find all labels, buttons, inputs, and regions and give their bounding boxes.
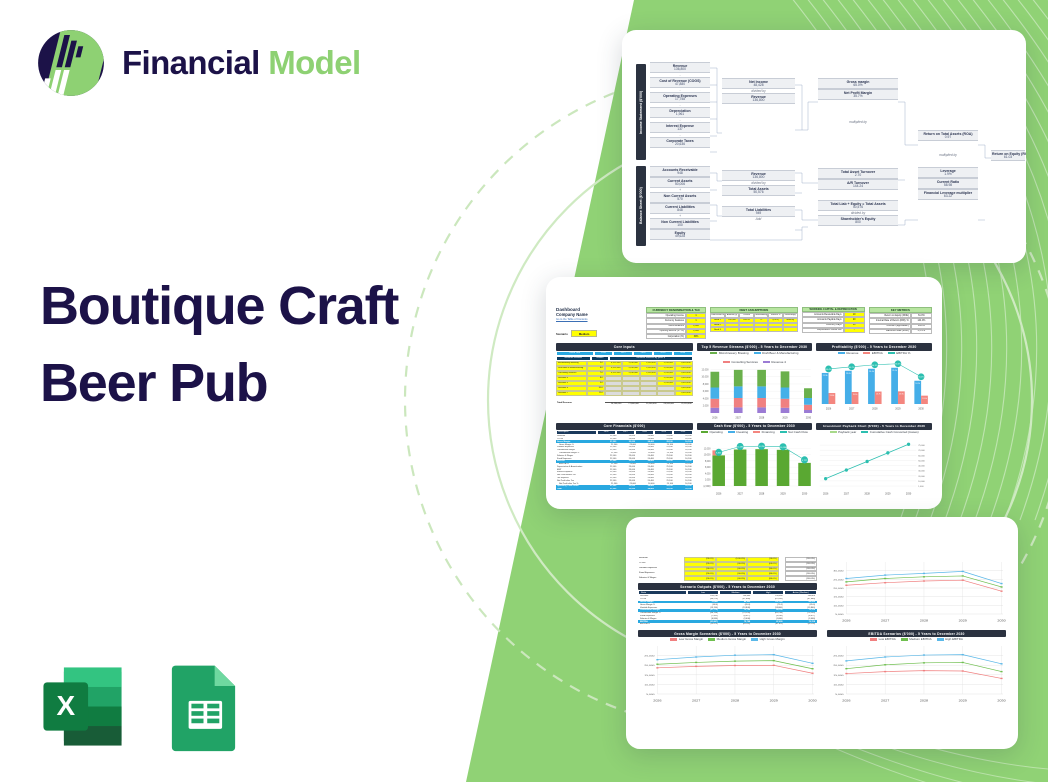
legend-item: Operating xyxy=(701,430,723,434)
svg-text:2026: 2026 xyxy=(823,492,829,495)
svg-text:2028: 2028 xyxy=(920,699,929,702)
svg-text:15,000: 15,000 xyxy=(644,674,655,677)
svg-text:2027: 2027 xyxy=(844,492,850,495)
svg-text:2027: 2027 xyxy=(737,492,743,495)
svg-text:2030: 2030 xyxy=(805,416,811,419)
core-inputs-title: Core Inputs xyxy=(556,343,693,350)
svg-text:20,000: 20,000 xyxy=(833,664,844,667)
svg-text:15.9k: 15.9k xyxy=(899,393,904,395)
cell-value[interactable] xyxy=(605,391,623,396)
table-row: Total21,50023,00024,40025,10016,100 xyxy=(556,488,693,491)
cell-value[interactable] xyxy=(622,391,640,396)
table-row: Depreciation Useful Life7 xyxy=(802,328,865,333)
core-inputs-block: Core Inputs Fiscal Year20262027202820292… xyxy=(556,343,693,418)
svg-text:65.1%: 65.1% xyxy=(919,376,925,378)
svg-text:30,000: 30,000 xyxy=(833,569,844,572)
chart-investment-payback: Investment Payback Chart ($'000) - 5 Yea… xyxy=(816,423,932,505)
svg-text:63.5%: 63.5% xyxy=(896,363,902,365)
svg-text:5,000: 5,000 xyxy=(646,693,655,696)
cell-growth[interactable]: 11.0 xyxy=(587,391,605,396)
cell-note: (100.0%) xyxy=(785,576,817,581)
svg-text:50,000: 50,000 xyxy=(918,460,925,462)
dupont-node-total-liabilities: Total Liabilities949 xyxy=(722,206,795,217)
cell[interactable] xyxy=(754,327,769,332)
cell[interactable] xyxy=(739,327,754,332)
svg-text:(2,000): (2,000) xyxy=(703,486,710,488)
legend-item: Low EBITDA xyxy=(870,637,896,641)
svg-text:25,000: 25,000 xyxy=(644,654,655,657)
legend-item: Draft Beer & Manufacturing xyxy=(754,351,799,355)
cell-value: 21,500 xyxy=(598,488,617,491)
svg-text:65.2%: 65.2% xyxy=(849,366,855,368)
chart-plot: 5,00010,00015,00020,00025,00020262027202… xyxy=(638,641,817,703)
svg-text:25,000: 25,000 xyxy=(833,578,844,581)
svg-text:10,295: 10,295 xyxy=(737,446,744,448)
svg-text:2,000: 2,000 xyxy=(702,405,708,407)
dupont-node-total-asset-turnover: Total Asset Turnover2.70 xyxy=(818,168,898,179)
svg-text:10,258: 10,258 xyxy=(758,446,765,448)
cell-input[interactable]: (80.0%) xyxy=(747,576,779,581)
legend-item: EBITDA xyxy=(863,351,882,355)
svg-text:2027: 2027 xyxy=(881,699,890,702)
screenshot-dashboard[interactable]: Dashboard Company Name Go to the Table o… xyxy=(546,277,942,509)
cell-label[interactable]: Revenue 7 xyxy=(556,391,587,396)
svg-text:2027: 2027 xyxy=(849,407,855,410)
promo-banner: Financial Model Boutique Craft Beer Pub … xyxy=(0,0,1048,782)
chart-cash-flow: Cash flow ($'000) - 5 Years to December … xyxy=(697,423,813,505)
svg-text:75,000: 75,000 xyxy=(918,445,925,447)
cell-value: (62.0%) xyxy=(720,623,752,626)
legend-item: Revenue 4 xyxy=(763,360,786,364)
svg-text:2028: 2028 xyxy=(920,619,929,622)
screenshot-dupont-analysis[interactable]: Income Statement ($'000) Balance Sheet (… xyxy=(622,30,1026,263)
panel-currency: CURRENCY DENOMINATION & TAX Operating In… xyxy=(646,307,706,339)
svg-text:8,866: 8,866 xyxy=(716,452,722,454)
dupont-node-net-profit-margin: Net Profit Margin35.7% xyxy=(818,89,898,100)
svg-text:15,000: 15,000 xyxy=(833,595,844,598)
dupont-column-5: Return on Equity (ROE)61.03 xyxy=(991,150,1025,161)
chart-legend: OperatingInvestingFinancingNet Cash Flow xyxy=(697,430,813,434)
total-value: 21,110,000 xyxy=(675,402,693,406)
cell-value[interactable]: 7 xyxy=(844,328,865,333)
svg-text:2,000: 2,000 xyxy=(705,480,711,482)
table-row: Revenue 711.04,020,000 xyxy=(556,391,693,396)
svg-text:2029: 2029 xyxy=(885,492,891,495)
chart-plot: 21.5k13.8k202623.0k15.1k202724.4k15.7k20… xyxy=(816,355,932,411)
dupont-balance-node: Non Current Assets570 xyxy=(650,192,710,203)
svg-text:2030: 2030 xyxy=(997,699,1006,702)
total-value: 29,200,000 xyxy=(640,402,658,406)
dupont-balance-column: Accounts Receivable948Current Assets50,0… xyxy=(650,166,710,240)
svg-text:10.5k: 10.5k xyxy=(922,398,927,400)
svg-text:4,000: 4,000 xyxy=(705,473,711,475)
dupont-column-3b: Total Asset Turnover2.70A/R Turnover144.… xyxy=(818,168,898,226)
google-sheets-icon xyxy=(157,660,250,753)
page-title: Boutique Craft Beer Pub xyxy=(40,268,420,421)
legend-item: EBITDA % xyxy=(888,351,911,355)
svg-text:25,000: 25,000 xyxy=(833,654,844,657)
svg-text:8,000: 8,000 xyxy=(705,461,711,463)
dashboard-title-block: Dashboard Company Name Go to the Table o… xyxy=(556,307,642,337)
dupont-balance-node: Accounts Receivable948 xyxy=(650,166,710,177)
dupont-operator: multiplied by xyxy=(818,120,898,124)
panel-debt: DEBT ASSUMPTIONS Loan/Grant NameAmount (… xyxy=(710,307,797,332)
dupont-balance-node: Current Assets50,006 xyxy=(650,177,710,188)
svg-text:10,000: 10,000 xyxy=(644,683,655,686)
cell-value: 23,000 xyxy=(617,488,636,491)
svg-text:2029: 2029 xyxy=(770,699,779,702)
cell-value: 1,373.0 xyxy=(911,329,932,334)
svg-text:2026: 2026 xyxy=(653,699,662,702)
svg-text:2026: 2026 xyxy=(826,407,832,410)
svg-text:24.4k: 24.4k xyxy=(869,371,874,373)
svg-text:6,727: 6,727 xyxy=(802,460,808,462)
cell-value: (67.0%) xyxy=(752,623,784,626)
dupont-column-4: Return on Total Assets (ROA)0.97multipli… xyxy=(918,130,978,200)
chart-plot: 5,00010,00015,00020,00025,00020262027202… xyxy=(827,641,1006,703)
dupont-node-revenue: Revenue136,800 xyxy=(722,93,795,104)
screenshot-scenario-analysis[interactable]: Revenue(20.0%)(0.00.0%)(10.0%)(100.0%)CO… xyxy=(626,517,1018,749)
chart-plot: 2,0004,0006,0008,00010,00012,00020262027… xyxy=(697,364,813,420)
svg-text:25.1k: 25.1k xyxy=(893,370,898,372)
dupont-node-ar-turnover: A/R Turnover144.24 xyxy=(818,179,898,190)
table-row: Bond 3 xyxy=(710,327,797,332)
svg-text:2028: 2028 xyxy=(758,492,764,495)
svg-text:20,000: 20,000 xyxy=(644,664,655,667)
dupont-income-column: Revenue136,800-Cost of Revenue (COGS)47,… xyxy=(650,62,710,148)
dupont-node-liab-equity: Total Liab + Equity = Total Assets50,576 xyxy=(818,200,898,211)
svg-text:2029: 2029 xyxy=(782,416,788,419)
svg-text:60,000: 60,000 xyxy=(918,455,925,457)
dupont-node-leverage: Leverage1.9% xyxy=(918,167,978,178)
cell-label: Maximum Rate (2030) xyxy=(869,329,911,334)
svg-text:10,000: 10,000 xyxy=(918,481,925,483)
svg-text:2026: 2026 xyxy=(842,619,851,622)
core-financials-block: Core Financials ($'000) Description20262… xyxy=(556,423,693,505)
dupont-node-revenue-2: Revenue136,800 xyxy=(722,170,795,181)
table-total-row: Total Revenue24,200,00027,800,00029,200,… xyxy=(556,402,693,406)
svg-text:2030: 2030 xyxy=(997,619,1006,622)
chart-gross-margin-scenarios: Gross Margin Scenarios ($'000) - 5 Years… xyxy=(638,630,817,711)
legend-item: Medium EBITDA xyxy=(901,637,932,641)
chart-title-payback: Investment Payback Chart ($'000) - 5 Yea… xyxy=(816,423,932,430)
svg-text:12,000: 12,000 xyxy=(703,448,710,450)
dupont-balance-node: Equity49,628 xyxy=(650,229,710,240)
chart-legend: Payback yearCumulative Cash Converted (l… xyxy=(816,430,932,434)
dupont-node-total-assets: Total Assets50,576 xyxy=(722,185,795,196)
cell[interactable]: Bond 3 xyxy=(710,327,725,332)
legend-item: Consulting Services xyxy=(723,360,758,364)
table-row: EBITDA %(62.1%)(62.0%)(67.0%)(62.0%) xyxy=(638,623,817,626)
dupont-income-node: Revenue136,800 xyxy=(650,62,710,73)
svg-text:20,000: 20,000 xyxy=(918,476,925,478)
cell-label: Total xyxy=(556,488,598,491)
scenario-inputs-table: Revenue(20.0%)(0.00.0%)(10.0%)(100.0%)CO… xyxy=(638,557,817,581)
dashboard-subheading: Company Name xyxy=(556,312,642,317)
dupont-balance-node: Non Current Liabilities100 xyxy=(650,218,710,229)
cell-value: 24,400 xyxy=(636,488,655,491)
svg-text:40,000: 40,000 xyxy=(918,465,925,467)
dupont-column-2b: Revenue136,800divided byTotal Assets50,5… xyxy=(722,170,795,221)
svg-text:10,000: 10,000 xyxy=(703,454,710,456)
legend-item: Investing xyxy=(728,430,749,434)
svg-text:10,000: 10,000 xyxy=(833,604,844,607)
brand-name-part2: Model xyxy=(268,44,360,81)
svg-text:16.1k: 16.1k xyxy=(916,383,921,385)
cell[interactable] xyxy=(783,327,798,332)
svg-text:2028: 2028 xyxy=(872,407,878,410)
legend-item: Revenue xyxy=(838,351,859,355)
svg-text:2030: 2030 xyxy=(906,492,912,495)
cell-label: Salaries & Wages xyxy=(638,576,684,581)
scenario-revenue-chart: 5,00010,00015,00020,00025,00030,00020262… xyxy=(827,557,1006,627)
cell-value: 25,100 xyxy=(655,488,674,491)
svg-text:5,000: 5,000 xyxy=(835,613,844,616)
dupont-node-net-income: Net Income48,428 xyxy=(722,78,795,89)
svg-text:2030: 2030 xyxy=(808,699,817,702)
chart-title-profitability: Profitability ($'000) - 5 Years to Decem… xyxy=(816,343,932,350)
svg-text:2030: 2030 xyxy=(919,407,925,410)
chart-title-ebitda: EBITDA Scenarios ($'000) - 5 Years to De… xyxy=(827,630,1006,637)
chart-plot: 1,00010,00020,00030,00040,00050,00060,00… xyxy=(816,434,932,496)
dupont-node-current-ratio: Current Ratio58.98 xyxy=(918,178,978,189)
dupont-node-gross-margin: Gross margin65.0% xyxy=(818,78,898,89)
scenario-outputs-table: RatioLowMediumHighActive (Medium)Revenue… xyxy=(638,590,817,626)
svg-text:70,000: 70,000 xyxy=(918,450,925,452)
svg-text:13.8k: 13.8k xyxy=(830,395,835,397)
svg-text:2027: 2027 xyxy=(735,416,741,419)
chart-ebitda-scenarios: EBITDA Scenarios ($'000) - 5 Years to De… xyxy=(827,630,1006,711)
cell-value[interactable] xyxy=(640,391,658,396)
svg-text:15,000: 15,000 xyxy=(833,674,844,677)
cell-label: EBITDA % xyxy=(638,623,687,626)
dupont-operator: Add xyxy=(722,217,795,221)
svg-text:2028: 2028 xyxy=(865,492,871,495)
svg-text:10,000: 10,000 xyxy=(833,683,844,686)
brand-name-part1: Financial xyxy=(122,44,268,81)
svg-text:2026: 2026 xyxy=(842,699,851,702)
cell[interactable] xyxy=(725,327,740,332)
svg-text:2029: 2029 xyxy=(780,492,786,495)
svg-text:64.3%: 64.3% xyxy=(872,364,878,366)
dupont-income-node: Corporate Taxes20,636 xyxy=(650,137,710,148)
legend-item: Medium Gross Margin xyxy=(708,637,746,641)
legend-item: Payback year xyxy=(830,430,857,434)
dupont-rail-balance-sheet: Balance Sheet ($'000) xyxy=(636,166,646,246)
svg-text:12,000: 12,000 xyxy=(701,369,709,371)
svg-text:15.1k: 15.1k xyxy=(853,394,858,396)
cell-value[interactable] xyxy=(657,391,675,396)
chart-title-cash-flow: Cash flow ($'000) - 5 Years to December … xyxy=(697,423,813,430)
circular-bar-chart-logo-icon xyxy=(36,28,106,98)
dashboard-toc-link[interactable]: Go to the Table of Contents xyxy=(556,318,642,321)
total-value: 27,800,000 xyxy=(622,402,640,406)
legend-item: High Gross Margin xyxy=(751,637,785,641)
chart-top-revenue-streams: Top 5 Revenue Streams ($'000) - 5 Years … xyxy=(697,343,813,418)
svg-text:2027: 2027 xyxy=(692,699,701,702)
microsoft-excel-icon: X xyxy=(36,660,129,753)
cell-value[interactable]: 30% xyxy=(686,334,706,339)
panel-key-metrics: KEY METRICS Return on Equity (ROE)61.0%I… xyxy=(869,307,932,334)
svg-text:2029: 2029 xyxy=(959,619,968,622)
panel-working-capital: WORKING CAPITAL & DEPRECIATION Accounts … xyxy=(802,307,865,333)
svg-text:2026: 2026 xyxy=(712,416,718,419)
svg-text:8,000: 8,000 xyxy=(702,384,708,386)
dupont-income-node: Operating Expenses17,758 xyxy=(650,92,710,103)
cell[interactable] xyxy=(768,327,783,332)
app-icons: X xyxy=(36,660,250,753)
svg-text:15.7k: 15.7k xyxy=(876,393,881,395)
svg-text:23.0k: 23.0k xyxy=(846,373,851,375)
svg-text:20,000: 20,000 xyxy=(833,587,844,590)
cell-input[interactable]: (00.0%) xyxy=(716,576,748,581)
brand-name: Financial Model xyxy=(122,44,361,82)
dupont-income-node: Cost of Revenue (COGS)47,880 xyxy=(650,77,710,88)
table-row: Salaries & Wages(20.0%)(00.0%)(80.0%)(10… xyxy=(638,576,817,581)
dupont-column-3: Gross margin65.0%Net Profit Margin35.7%m… xyxy=(818,78,898,124)
svg-text:2026: 2026 xyxy=(716,492,722,495)
svg-text:10,156: 10,156 xyxy=(780,447,787,449)
dupont-rail-income-statement: Income Statement ($'000) xyxy=(636,64,646,160)
scenario-selector[interactable]: Medium xyxy=(571,330,598,337)
chart-title-gross-margin: Gross Margin Scenarios ($'000) - 5 Years… xyxy=(638,630,817,637)
legend-item: Cumulative Cash Converted (losses) xyxy=(861,430,918,434)
chart-plot: 5,00010,00015,00020,00025,00030,00020262… xyxy=(827,557,1006,623)
svg-text:6,000: 6,000 xyxy=(702,391,708,393)
table-row: Maximum Rate (2030)1,373.0 xyxy=(869,329,932,334)
svg-text:6,000: 6,000 xyxy=(705,467,711,469)
svg-text:2029: 2029 xyxy=(959,699,968,702)
total-label: Total Revenue xyxy=(556,402,605,406)
dupont-income-node: Depreciation1,961 xyxy=(650,107,710,118)
svg-text:64.4%: 64.4% xyxy=(826,369,832,371)
svg-text:X: X xyxy=(56,690,75,721)
cell-value: 16,100 xyxy=(674,488,693,491)
cell-input[interactable]: (20.0%) xyxy=(684,576,716,581)
svg-text:10,000: 10,000 xyxy=(701,376,709,378)
cell-value[interactable]: 4,020,000 xyxy=(675,391,693,396)
dupont-income-node: Interest Expense137 xyxy=(650,122,710,133)
total-value: 24,200,000 xyxy=(605,402,623,406)
dupont-node-shareholders-equity: Shareholder's Equity800 xyxy=(818,215,898,226)
dupont-column-2: Net Income48,428divided byRevenue136,800 xyxy=(722,78,795,104)
table-row: Corporation (%)30% xyxy=(646,334,706,339)
cell-value: (62.1%) xyxy=(687,623,719,626)
dupont-node-flm: Financial Leverage multiplier63.22 xyxy=(918,189,978,200)
legend-item: Net Cash Flow xyxy=(780,430,808,434)
svg-text:2028: 2028 xyxy=(758,416,764,419)
dupont-balance-node: Current Liabilities848 xyxy=(650,203,710,214)
legend-item: Financing xyxy=(753,430,775,434)
total-value: 28,100,000 xyxy=(657,402,675,406)
chart-title-top-revenue: Top 5 Revenue Streams ($'000) - 5 Years … xyxy=(697,343,813,350)
svg-text:30,000: 30,000 xyxy=(918,471,925,473)
cell-label: Depreciation Useful Life xyxy=(802,328,844,333)
cell-value: (62.0%) xyxy=(785,623,817,626)
brand-logo: Financial Model xyxy=(36,28,361,98)
legend-item: High EBITDA xyxy=(937,637,963,641)
svg-text:2027: 2027 xyxy=(881,619,890,622)
scenario-label: Scenario xyxy=(556,332,568,336)
scenario-outputs-title: Scenario Outputs ($'000) - 5 Years to De… xyxy=(638,583,817,590)
legend-item: Low Gross Margin xyxy=(670,637,703,641)
svg-text:4,000: 4,000 xyxy=(702,398,708,400)
svg-text:2030: 2030 xyxy=(801,492,807,495)
svg-text:2029: 2029 xyxy=(896,407,902,410)
svg-text:2028: 2028 xyxy=(731,699,740,702)
svg-text:1,000: 1,000 xyxy=(918,486,924,488)
svg-text:21.5k: 21.5k xyxy=(823,375,828,377)
chart-profitability: Profitability ($'000) - 5 Years to Decem… xyxy=(816,343,932,418)
cell-label: Corporation (%) xyxy=(646,334,686,339)
chart-plot: (2,000)2,0004,0006,0008,00010,00012,0002… xyxy=(697,434,813,496)
dupont-node-roa: Return on Total Assets (ROA)0.97 xyxy=(918,130,978,141)
svg-text:5,000: 5,000 xyxy=(835,693,844,696)
legend-item: Microbrewery Brewing xyxy=(710,351,748,355)
core-financials-title: Core Financials ($'000) xyxy=(556,423,693,430)
dupont-node-roe: Return on Equity (ROE)61.03 xyxy=(991,150,1025,161)
chart-legend: Microbrewery BrewingDraft Beer & Manufac… xyxy=(697,351,813,364)
